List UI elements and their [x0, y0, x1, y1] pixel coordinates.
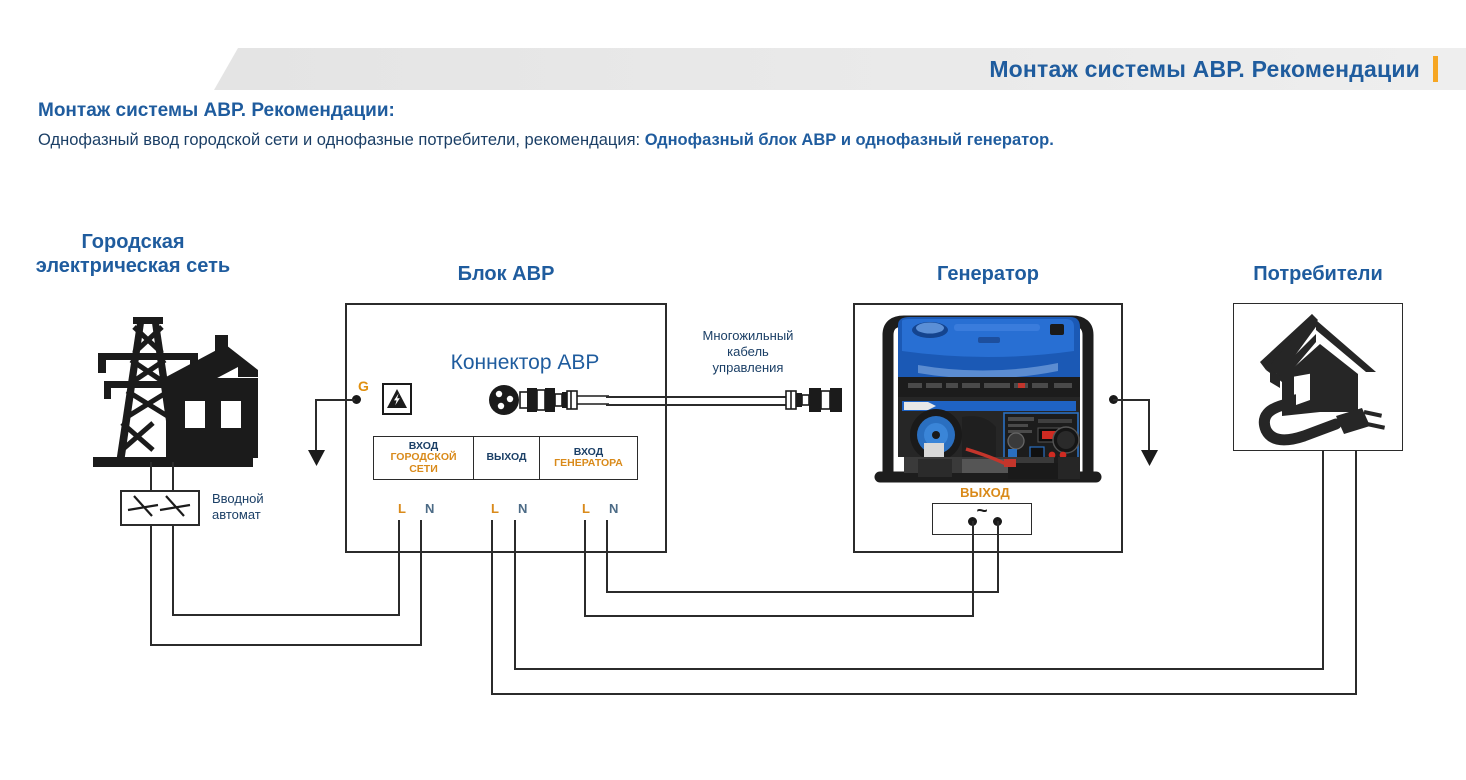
header-banner: Монтаж системы АВР. Рекомендации — [0, 48, 1466, 90]
header-accent-bar — [1433, 56, 1438, 82]
terminal-n-2: N — [518, 501, 527, 516]
mains-l-wire-v2 — [420, 520, 422, 646]
ground-label-text: G — [358, 378, 369, 394]
generator-title-text: Генератор — [937, 263, 1039, 285]
out-l-wire-v2 — [1355, 450, 1357, 695]
generator-output-label: ВЫХОД — [915, 485, 1055, 500]
power-pylon-icon — [78, 305, 263, 470]
mains-title: Городская электрическая сеть — [18, 230, 248, 278]
mains-l-wire-h — [150, 644, 422, 646]
abp-port-mains-line2: ГОРОДСКОЙ — [390, 451, 456, 463]
control-cable-caption: Многожильный кабель управления — [678, 328, 818, 376]
out-l-wire-h — [491, 693, 1357, 695]
input-breaker-label: Вводной автомат — [212, 491, 302, 523]
input-breaker-label-text: Вводной автомат — [212, 491, 264, 522]
gen-l-wire-v2 — [584, 520, 586, 617]
mains-n-wire-v2 — [398, 520, 400, 616]
generator-output-socket-box: ~ — [932, 503, 1032, 535]
mains-n-wire-h — [172, 614, 400, 616]
mains-title-text: Городская электрическая сеть — [36, 231, 230, 277]
gen-l-wire-v1 — [972, 521, 974, 617]
terminal-l-2: L — [491, 501, 499, 516]
mains-l-wire-v1 — [150, 526, 152, 646]
abp-port-output: ВЫХОД — [474, 437, 540, 479]
abp-port-gen-line2: ГЕНЕРАТОРА — [554, 457, 623, 469]
abp-port-mains-input: ВХОД ГОРОДСКОЙ СЕТИ — [374, 437, 474, 479]
ground-wire-v — [315, 399, 317, 455]
high-voltage-warning-icon — [382, 383, 412, 415]
abp-port-generator-input: ВХОД ГЕНЕРАТОРА — [540, 437, 637, 479]
control-cable-plug-icon — [786, 386, 856, 414]
terminal-label-group-1: L N — [398, 501, 434, 516]
terminal-n-1: N — [425, 501, 434, 516]
out-n-wire-v1 — [514, 520, 516, 670]
consumers-title-text: Потребители — [1253, 263, 1383, 285]
generator-ground-wire-v — [1148, 399, 1150, 455]
intro-body-normal: Однофазный ввод городской сети и однофаз… — [38, 131, 645, 149]
intro-body: Однофазный ввод городской сети и однофаз… — [38, 126, 1378, 154]
gen-l-wire-h — [584, 615, 974, 617]
generator-title: Генератор — [853, 262, 1123, 286]
abp-title-text: Блок АВР — [458, 263, 555, 285]
control-cable-top — [606, 396, 788, 398]
intro-title: Монтаж системы АВР. Рекомендации: — [38, 98, 1438, 124]
gen-n-wire-v2 — [606, 520, 608, 593]
ground-label: G — [358, 378, 369, 394]
abp-title: Блок АВР — [345, 262, 667, 286]
terminal-n-3: N — [609, 501, 618, 516]
control-cable-caption-line3: управления — [678, 360, 818, 376]
abp-ports: ВХОД ГОРОДСКОЙ СЕТИ ВЫХОД ВХОД ГЕНЕРАТОР… — [373, 436, 638, 480]
abp-connector-title-text: Коннектор АВР — [451, 351, 600, 374]
terminal-l-3: L — [582, 501, 590, 516]
generator-ground-wire-h — [1113, 399, 1150, 401]
abp-port-gen-line1: ВХОД — [574, 446, 603, 458]
abp-port-mains-line1: ВХОД — [409, 440, 438, 452]
control-cable-bottom — [606, 404, 788, 406]
intro-body-strong: Однофазный блок АВР и однофазный генерат… — [645, 131, 1054, 149]
house-with-plug-icon — [1252, 312, 1384, 442]
terminal-l-1: L — [398, 501, 406, 516]
portable-generator-photo — [858, 307, 1118, 490]
abp-port-mains-line3: СЕТИ — [409, 463, 438, 475]
gen-n-wire-v1 — [997, 521, 999, 593]
mains-n-wire-v1 — [172, 526, 174, 616]
control-cable-caption-line1: Многожильный — [678, 328, 818, 344]
out-n-wire-h — [514, 668, 1324, 670]
consumers-title: Потребители — [1218, 262, 1418, 286]
round-3pin-connector-icon — [489, 385, 609, 415]
abp-port-output-line1: ВЫХОД — [486, 452, 526, 464]
intro-section: Монтаж системы АВР. Рекомендации: Однофа… — [38, 98, 1438, 154]
ground-wire-h — [315, 399, 355, 401]
out-l-wire-v1 — [491, 520, 493, 695]
terminal-label-group-2: L N — [491, 501, 527, 516]
terminal-label-group-3: L N — [582, 501, 618, 516]
ac-symbol: ~ — [933, 501, 1031, 523]
generator-ground-arrow-icon — [1141, 450, 1158, 466]
abp-connector-title: Коннектор АВР — [400, 351, 650, 375]
generator-output-label-text: ВЫХОД — [960, 485, 1010, 500]
out-n-wire-v2 — [1322, 450, 1324, 670]
control-cable-caption-line2: кабель — [678, 344, 818, 360]
gen-n-wire-h — [606, 591, 999, 593]
page-title: Монтаж системы АВР. Рекомендации — [989, 49, 1420, 89]
input-breaker-symbol — [120, 490, 200, 526]
ground-arrow-icon — [308, 450, 325, 466]
